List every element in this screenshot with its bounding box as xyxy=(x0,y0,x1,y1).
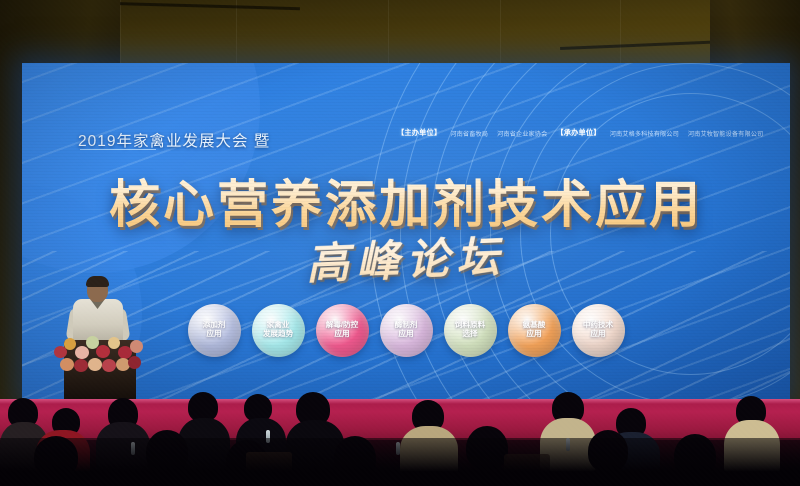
speaker-at-podium xyxy=(40,276,160,406)
speaker-hair xyxy=(86,276,109,287)
conference-photo: 2019年家禽业发展大会 暨 【主办单位】 河南省畜牧局 河南省企业家协会 【承… xyxy=(0,0,800,486)
audience-foreground-shadow xyxy=(0,438,800,486)
floral-arrangement xyxy=(50,332,154,376)
